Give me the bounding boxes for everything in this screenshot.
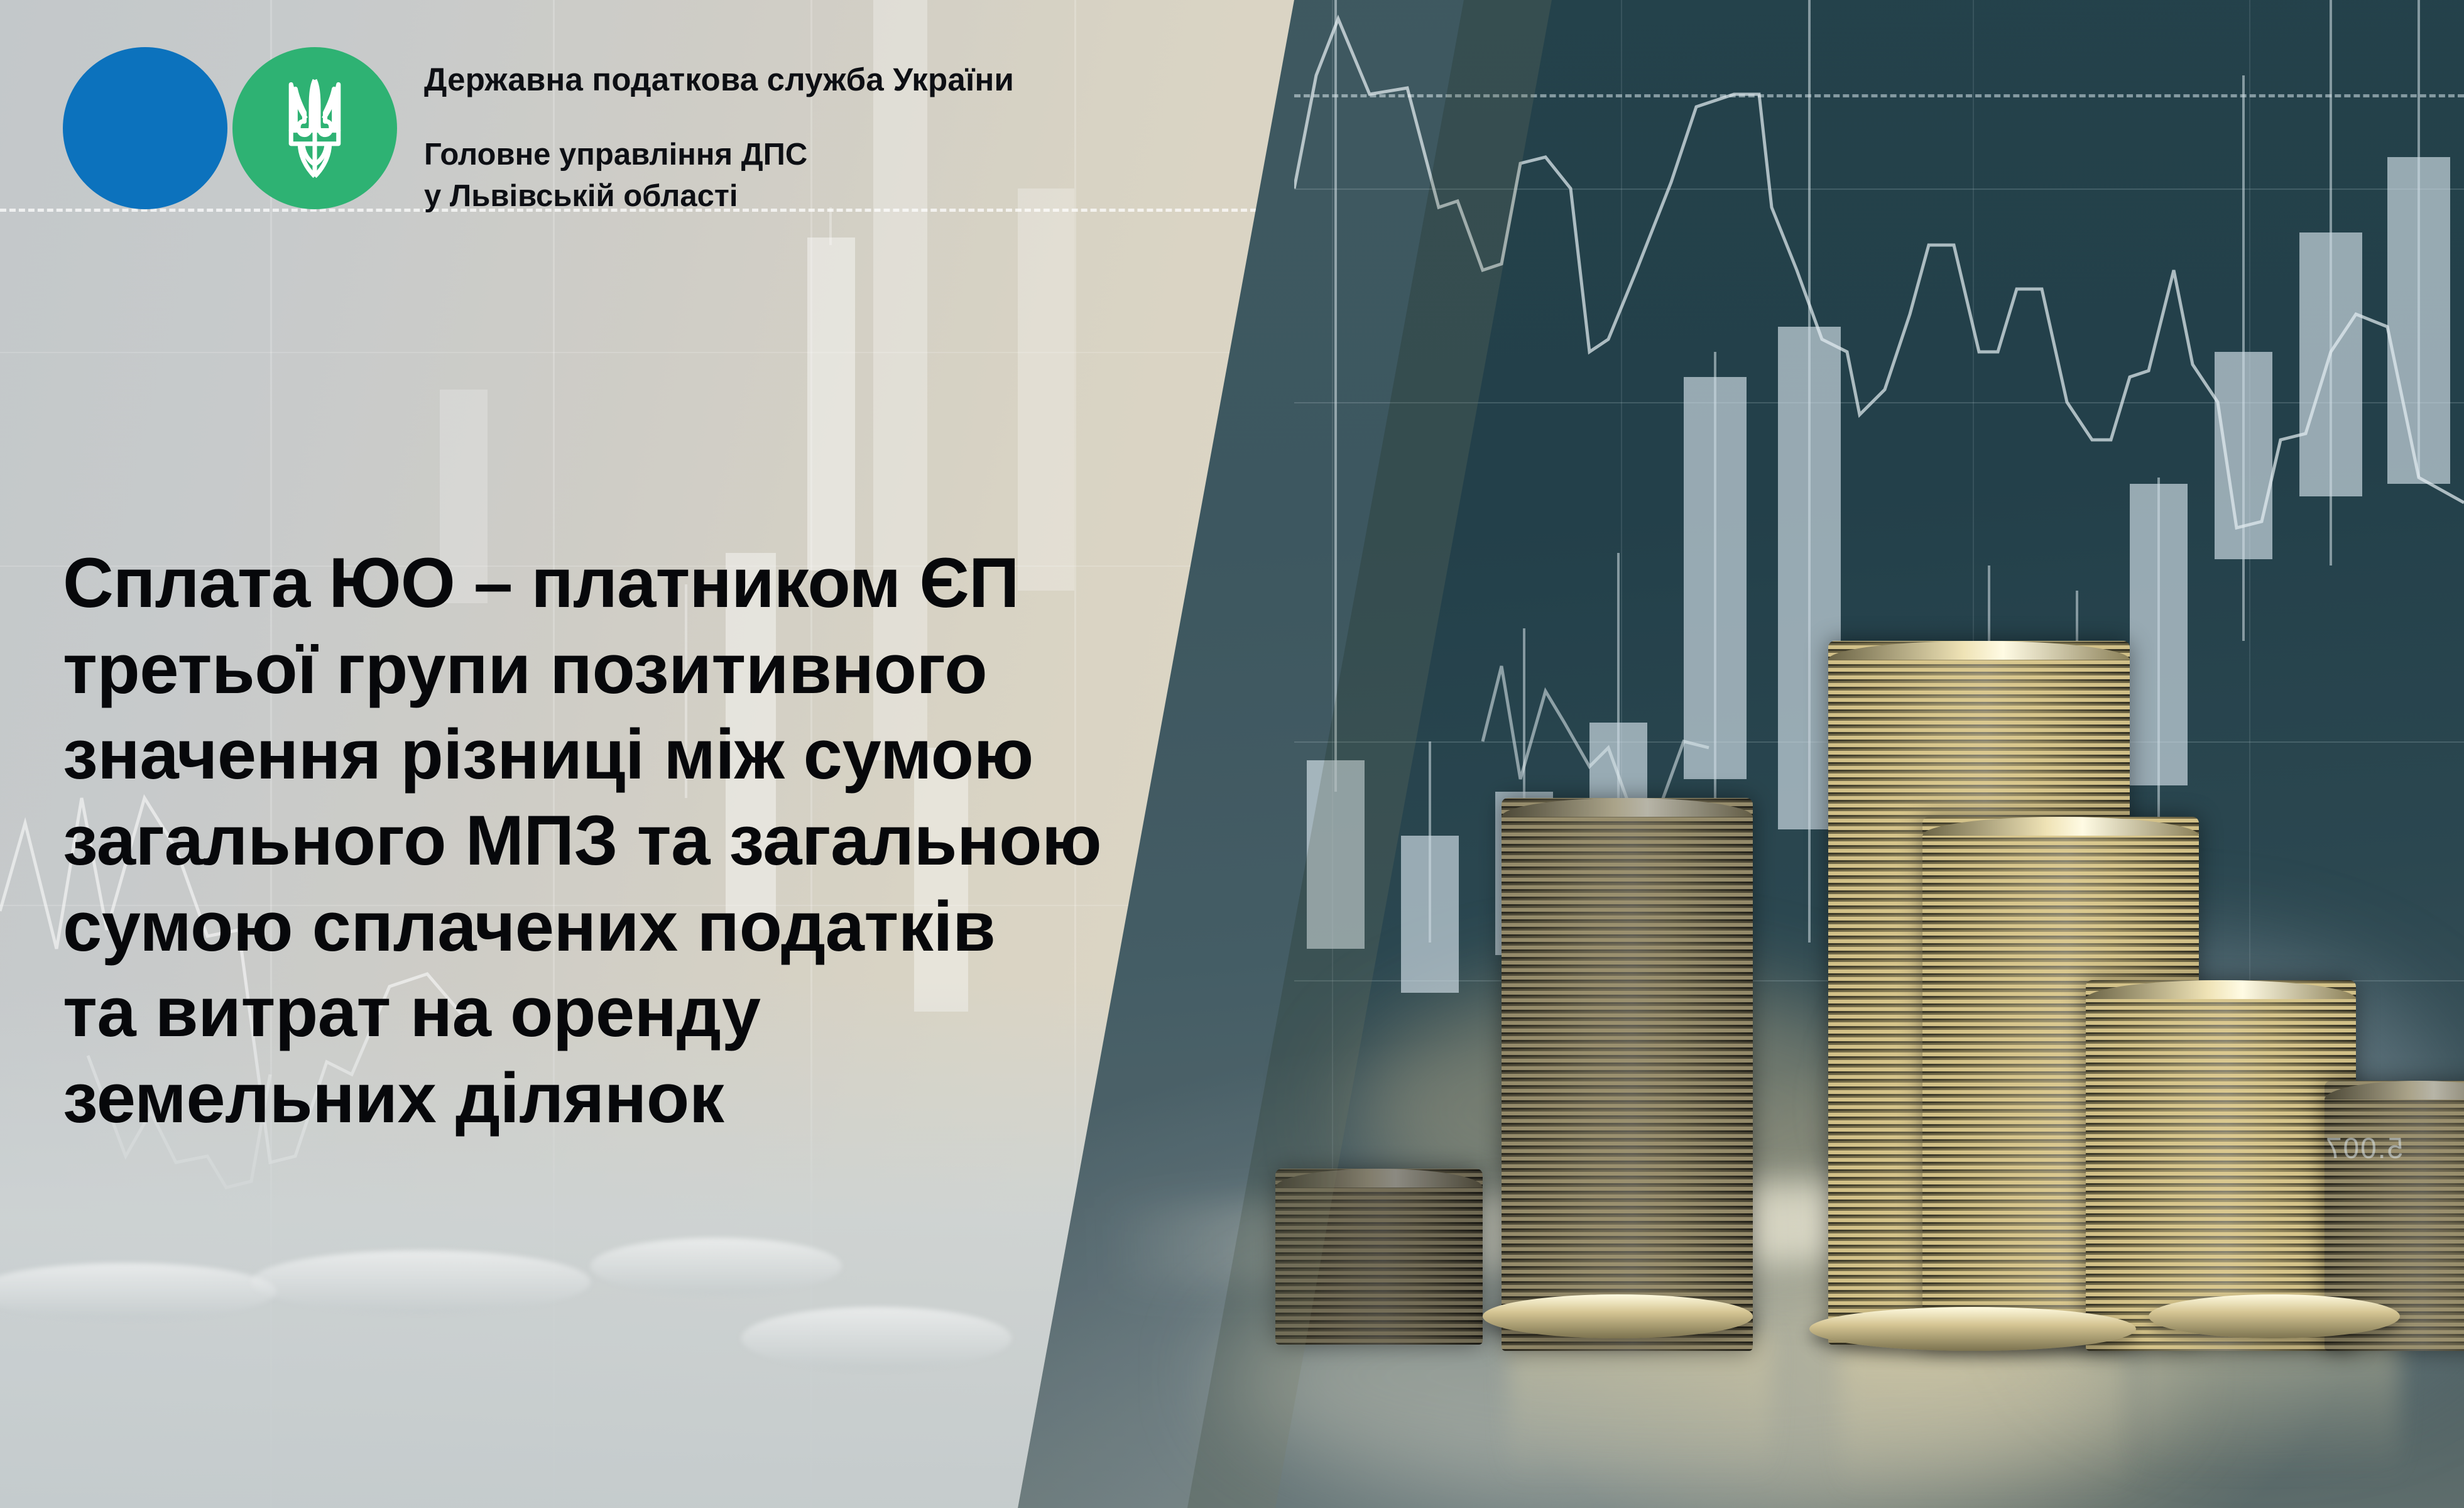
coin [1483, 1294, 1753, 1338]
coin [1809, 1307, 2136, 1351]
org-region: у Львівській області [424, 178, 1014, 214]
coin-stack [1502, 798, 1753, 1351]
promo-banner: 5.007 [0, 0, 2464, 1508]
coin [2149, 1294, 2400, 1338]
headline-line: Сплата ЮО – платником ЄП [63, 540, 1169, 626]
org-titles: Державна податкова служба України Головн… [424, 47, 1014, 214]
ghost-numeral: 5.007 [2325, 1131, 2403, 1165]
headline-line: третьої групи позитивного [63, 626, 1169, 713]
headline-line: загального МПЗ та загальною [63, 798, 1169, 884]
headline-line: сумою сплачених податків [63, 884, 1169, 970]
headline-line: земельних ділянок [63, 1056, 1169, 1142]
org-name: Державна податкова служба України [424, 61, 1014, 98]
brand-header: Державна податкова служба України Головн… [63, 47, 1014, 214]
headline-line: та витрат на оренду [63, 970, 1169, 1056]
headline-line: значення різниці між сумою [63, 712, 1169, 798]
logo-circle-blue [63, 47, 227, 209]
ukraine-trident-icon [232, 47, 397, 209]
dps-logo [63, 47, 402, 209]
headline: Сплата ЮО – платником ЄП третьої групи п… [63, 540, 1169, 1141]
org-department: Головне управління ДПС [424, 137, 1014, 172]
